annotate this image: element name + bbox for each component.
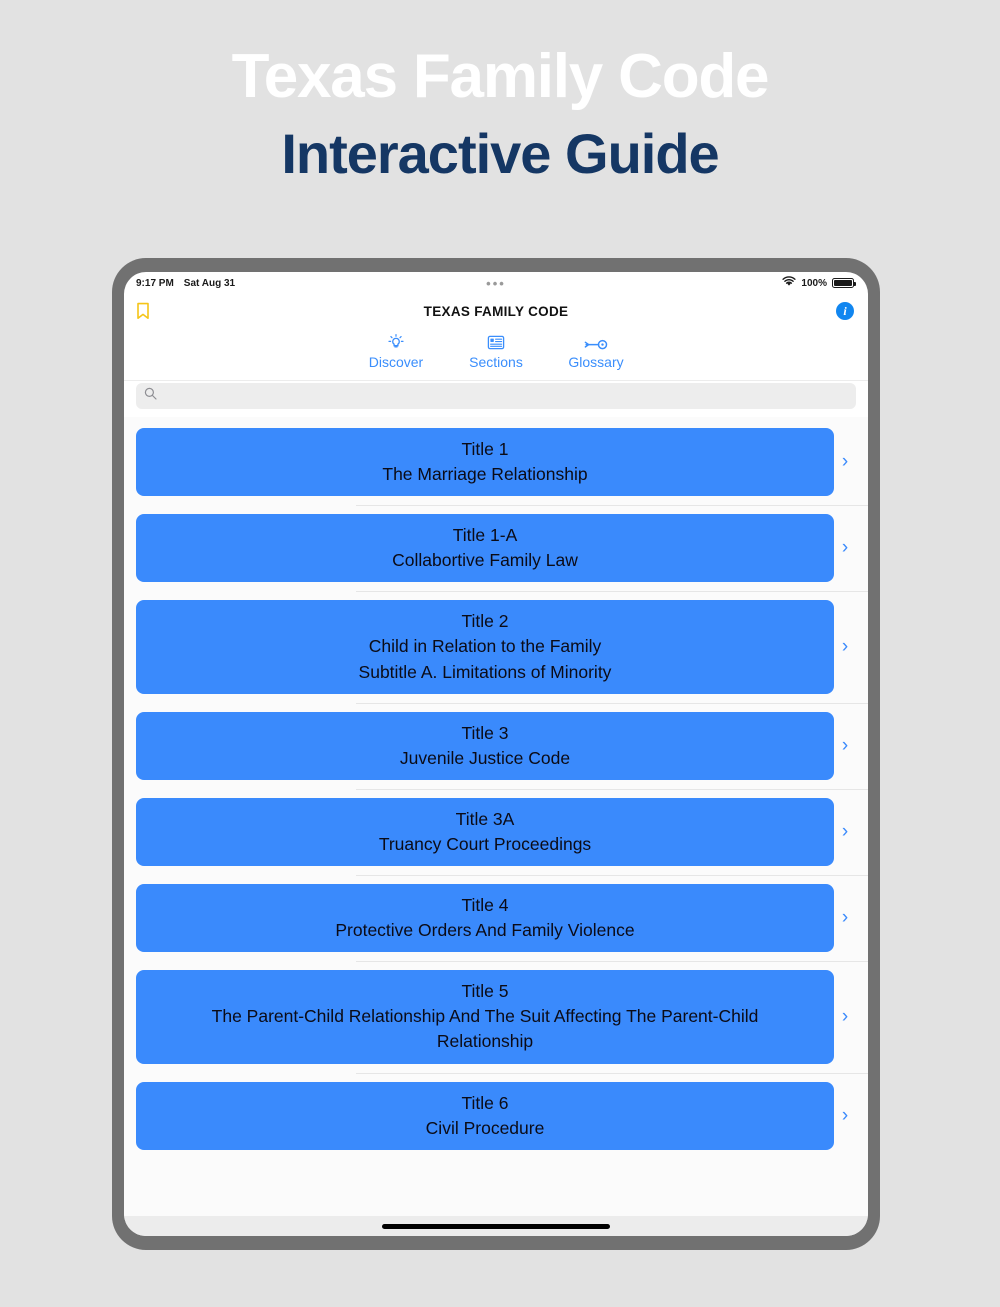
title-card-heading: Title 2 [148, 610, 822, 633]
title-card[interactable]: Title 5 The Parent-Child Relationship An… [136, 970, 834, 1063]
chevron-right-icon[interactable]: › [834, 961, 856, 1072]
title-card-heading: Title 1-A [148, 524, 822, 547]
chevron-right-icon[interactable]: › [834, 789, 856, 875]
title-list[interactable]: Title 1 The Marriage Relationship › Titl… [124, 417, 868, 1216]
tab-sections[interactable]: Sections [464, 330, 528, 370]
list-item[interactable]: Title 3 Juvenile Justice Code › [124, 703, 868, 789]
chevron-right-icon[interactable]: › [834, 591, 856, 702]
title-card-subline: The Parent-Child Relationship And The Su… [148, 1005, 822, 1028]
list-item[interactable]: Title 4 Protective Orders And Family Vio… [124, 875, 868, 961]
title-card-subline: The Marriage Relationship [148, 463, 822, 486]
title-card-heading: Title 3 [148, 722, 822, 745]
promo-title-line2: Interactive Guide [0, 123, 1000, 186]
status-date: Sat Aug 31 [184, 278, 235, 289]
title-card[interactable]: Title 2 Child in Relation to the Family … [136, 600, 834, 693]
status-bar-left: 9:17 PM Sat Aug 31 [136, 278, 235, 289]
tab-discover-label: Discover [369, 354, 423, 370]
home-indicator-area [124, 1216, 868, 1236]
battery-percent-label: 100% [801, 278, 827, 289]
document-list-icon [486, 330, 506, 352]
title-card-heading: Title 6 [148, 1092, 822, 1115]
title-card-subline: Child in Relation to the Family [148, 635, 822, 658]
multitask-dots-icon[interactable]: ••• [124, 277, 868, 290]
chevron-right-icon[interactable]: › [834, 1073, 856, 1159]
list-item[interactable]: Title 6 Civil Procedure › [124, 1073, 868, 1159]
title-card[interactable]: Title 1 The Marriage Relationship [136, 428, 834, 496]
info-circle-icon[interactable]: i [836, 302, 854, 320]
title-card[interactable]: Title 1-A Collabortive Family Law [136, 514, 834, 582]
search-input[interactable] [136, 383, 856, 409]
chevron-right-icon[interactable]: › [834, 703, 856, 789]
list-item[interactable]: Title 1-A Collabortive Family Law › [124, 505, 868, 591]
list-item[interactable]: Title 5 The Parent-Child Relationship An… [124, 961, 868, 1072]
chevron-right-icon[interactable]: › [834, 875, 856, 961]
title-card-heading: Title 1 [148, 438, 822, 461]
chevron-right-icon[interactable]: › [834, 419, 856, 505]
tablet-screen: 9:17 PM Sat Aug 31 ••• 100% [124, 272, 868, 1236]
title-card-heading: Title 3A [148, 808, 822, 831]
title-card-subline: Protective Orders And Family Violence [148, 919, 822, 942]
status-bar: 9:17 PM Sat Aug 31 ••• 100% [124, 272, 868, 294]
status-bar-right: 100% [782, 276, 854, 290]
title-card-heading: Title 4 [148, 894, 822, 917]
title-card-subline: Subtitle A. Limitations of Minority [148, 661, 822, 684]
title-card-subline: Truancy Court Proceedings [148, 833, 822, 856]
title-card[interactable]: Title 4 Protective Orders And Family Vio… [136, 884, 834, 952]
tab-glossary-label: Glossary [568, 354, 623, 370]
search-icon [144, 387, 157, 405]
title-card-subline: Collabortive Family Law [148, 549, 822, 572]
app-navigation-bar: TEXAS FAMILY CODE i [124, 294, 868, 328]
title-card-subline: Juvenile Justice Code [148, 747, 822, 770]
title-card[interactable]: Title 3 Juvenile Justice Code [136, 712, 834, 780]
bookmark-icon[interactable] [136, 302, 150, 320]
promo-header: Texas Family Code Interactive Guide [0, 0, 1000, 186]
tablet-device-frame: 9:17 PM Sat Aug 31 ••• 100% [112, 258, 880, 1250]
tab-bar: Discover Sections [124, 328, 868, 380]
chevron-right-icon[interactable]: › [834, 505, 856, 591]
list-item[interactable]: Title 1 The Marriage Relationship › [124, 419, 868, 505]
list-item[interactable]: Title 2 Child in Relation to the Family … [124, 591, 868, 702]
list-item[interactable]: Title 3A Truancy Court Proceedings › [124, 789, 868, 875]
promo-title-line1: Texas Family Code [0, 44, 1000, 111]
battery-full-icon [832, 278, 854, 288]
key-icon [583, 330, 609, 352]
title-card-subline: Civil Procedure [148, 1117, 822, 1140]
status-time: 9:17 PM [136, 278, 174, 289]
title-card[interactable]: Title 3A Truancy Court Proceedings [136, 798, 834, 866]
title-card-subline: Relationship [148, 1030, 822, 1053]
wifi-icon [782, 276, 796, 290]
search-bar-container [124, 380, 868, 417]
tab-glossary[interactable]: Glossary [564, 330, 628, 370]
tab-discover[interactable]: Discover [364, 330, 428, 370]
title-card[interactable]: Title 6 Civil Procedure [136, 1082, 834, 1150]
tab-sections-label: Sections [469, 354, 523, 370]
lightbulb-icon [386, 330, 406, 352]
title-card-heading: Title 5 [148, 980, 822, 1003]
home-indicator[interactable] [382, 1224, 610, 1229]
page-title: TEXAS FAMILY CODE [124, 304, 868, 319]
